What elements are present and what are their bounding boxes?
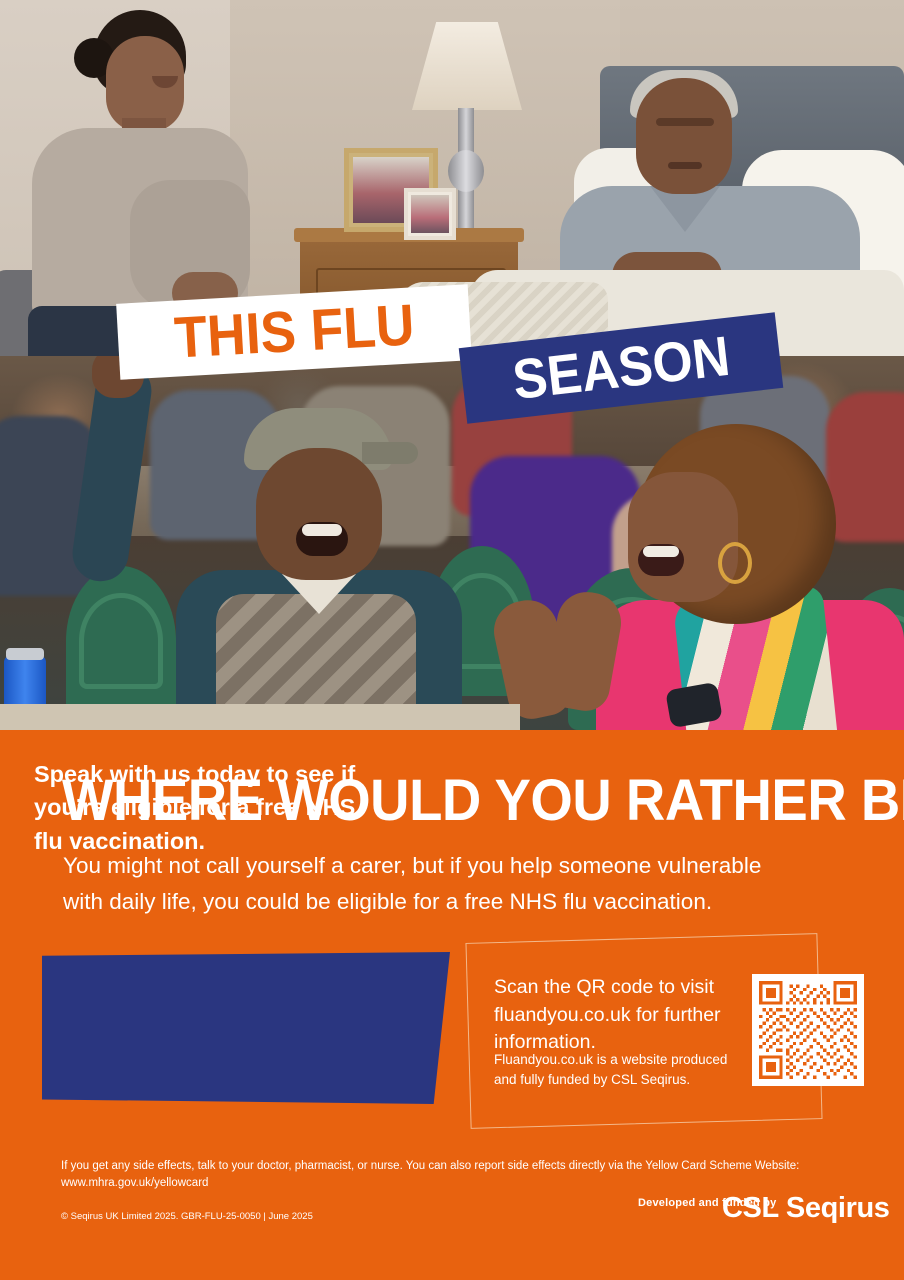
patient-face xyxy=(636,78,732,194)
clapping-hands xyxy=(500,592,632,720)
headline-banner-this-flu-text: THIS FLU xyxy=(173,296,416,367)
bottom-photo-community-hall xyxy=(0,356,904,730)
speak-with-us-callout xyxy=(42,952,450,1104)
hoop-earring xyxy=(718,542,752,584)
qr-code[interactable] xyxy=(752,974,864,1086)
qr-instruction-text: Scan the QR code to visit fluandyou.co.u… xyxy=(494,974,744,1057)
crowd-person xyxy=(826,392,904,542)
qr-disclaimer-text: Fluandyou.co.uk is a website produced an… xyxy=(494,1050,734,1091)
headline-banner-season-text: SEASON xyxy=(510,328,733,408)
mans-face xyxy=(256,448,382,580)
subcopy-paragraph: You might not call yourself a carer, but… xyxy=(63,848,803,921)
photo-frame-small-image xyxy=(411,195,449,233)
photo-frame-small xyxy=(404,188,456,240)
orange-content-panel: WHERE WOULD YOU RATHER BE? You might not… xyxy=(0,730,904,1280)
womans-laughing-mouth xyxy=(638,544,684,576)
mans-laughing-mouth xyxy=(296,522,348,556)
qr-code-graphic xyxy=(759,981,857,1079)
side-effects-legal-text: If you get any side effects, talk to you… xyxy=(61,1158,904,1192)
table-lamp-base xyxy=(448,150,484,192)
green-chair xyxy=(66,566,176,716)
csl-seqirus-logo: CSL Seqirus xyxy=(722,1192,890,1225)
foreground-table xyxy=(0,704,520,730)
speak-with-us-text: Speak with us today to see if you’re eli… xyxy=(34,758,364,858)
womans-face xyxy=(628,472,738,602)
copyright-line: © Seqirus UK Limited 2025. GBR-FLU-25-00… xyxy=(61,1211,313,1222)
hand-right xyxy=(542,587,626,714)
flu-campaign-poster: THIS FLU SEASON WHERE WOULD YOU RATHER B… xyxy=(0,0,904,1280)
patient-mouth xyxy=(668,162,702,169)
patient-brow xyxy=(656,118,714,126)
